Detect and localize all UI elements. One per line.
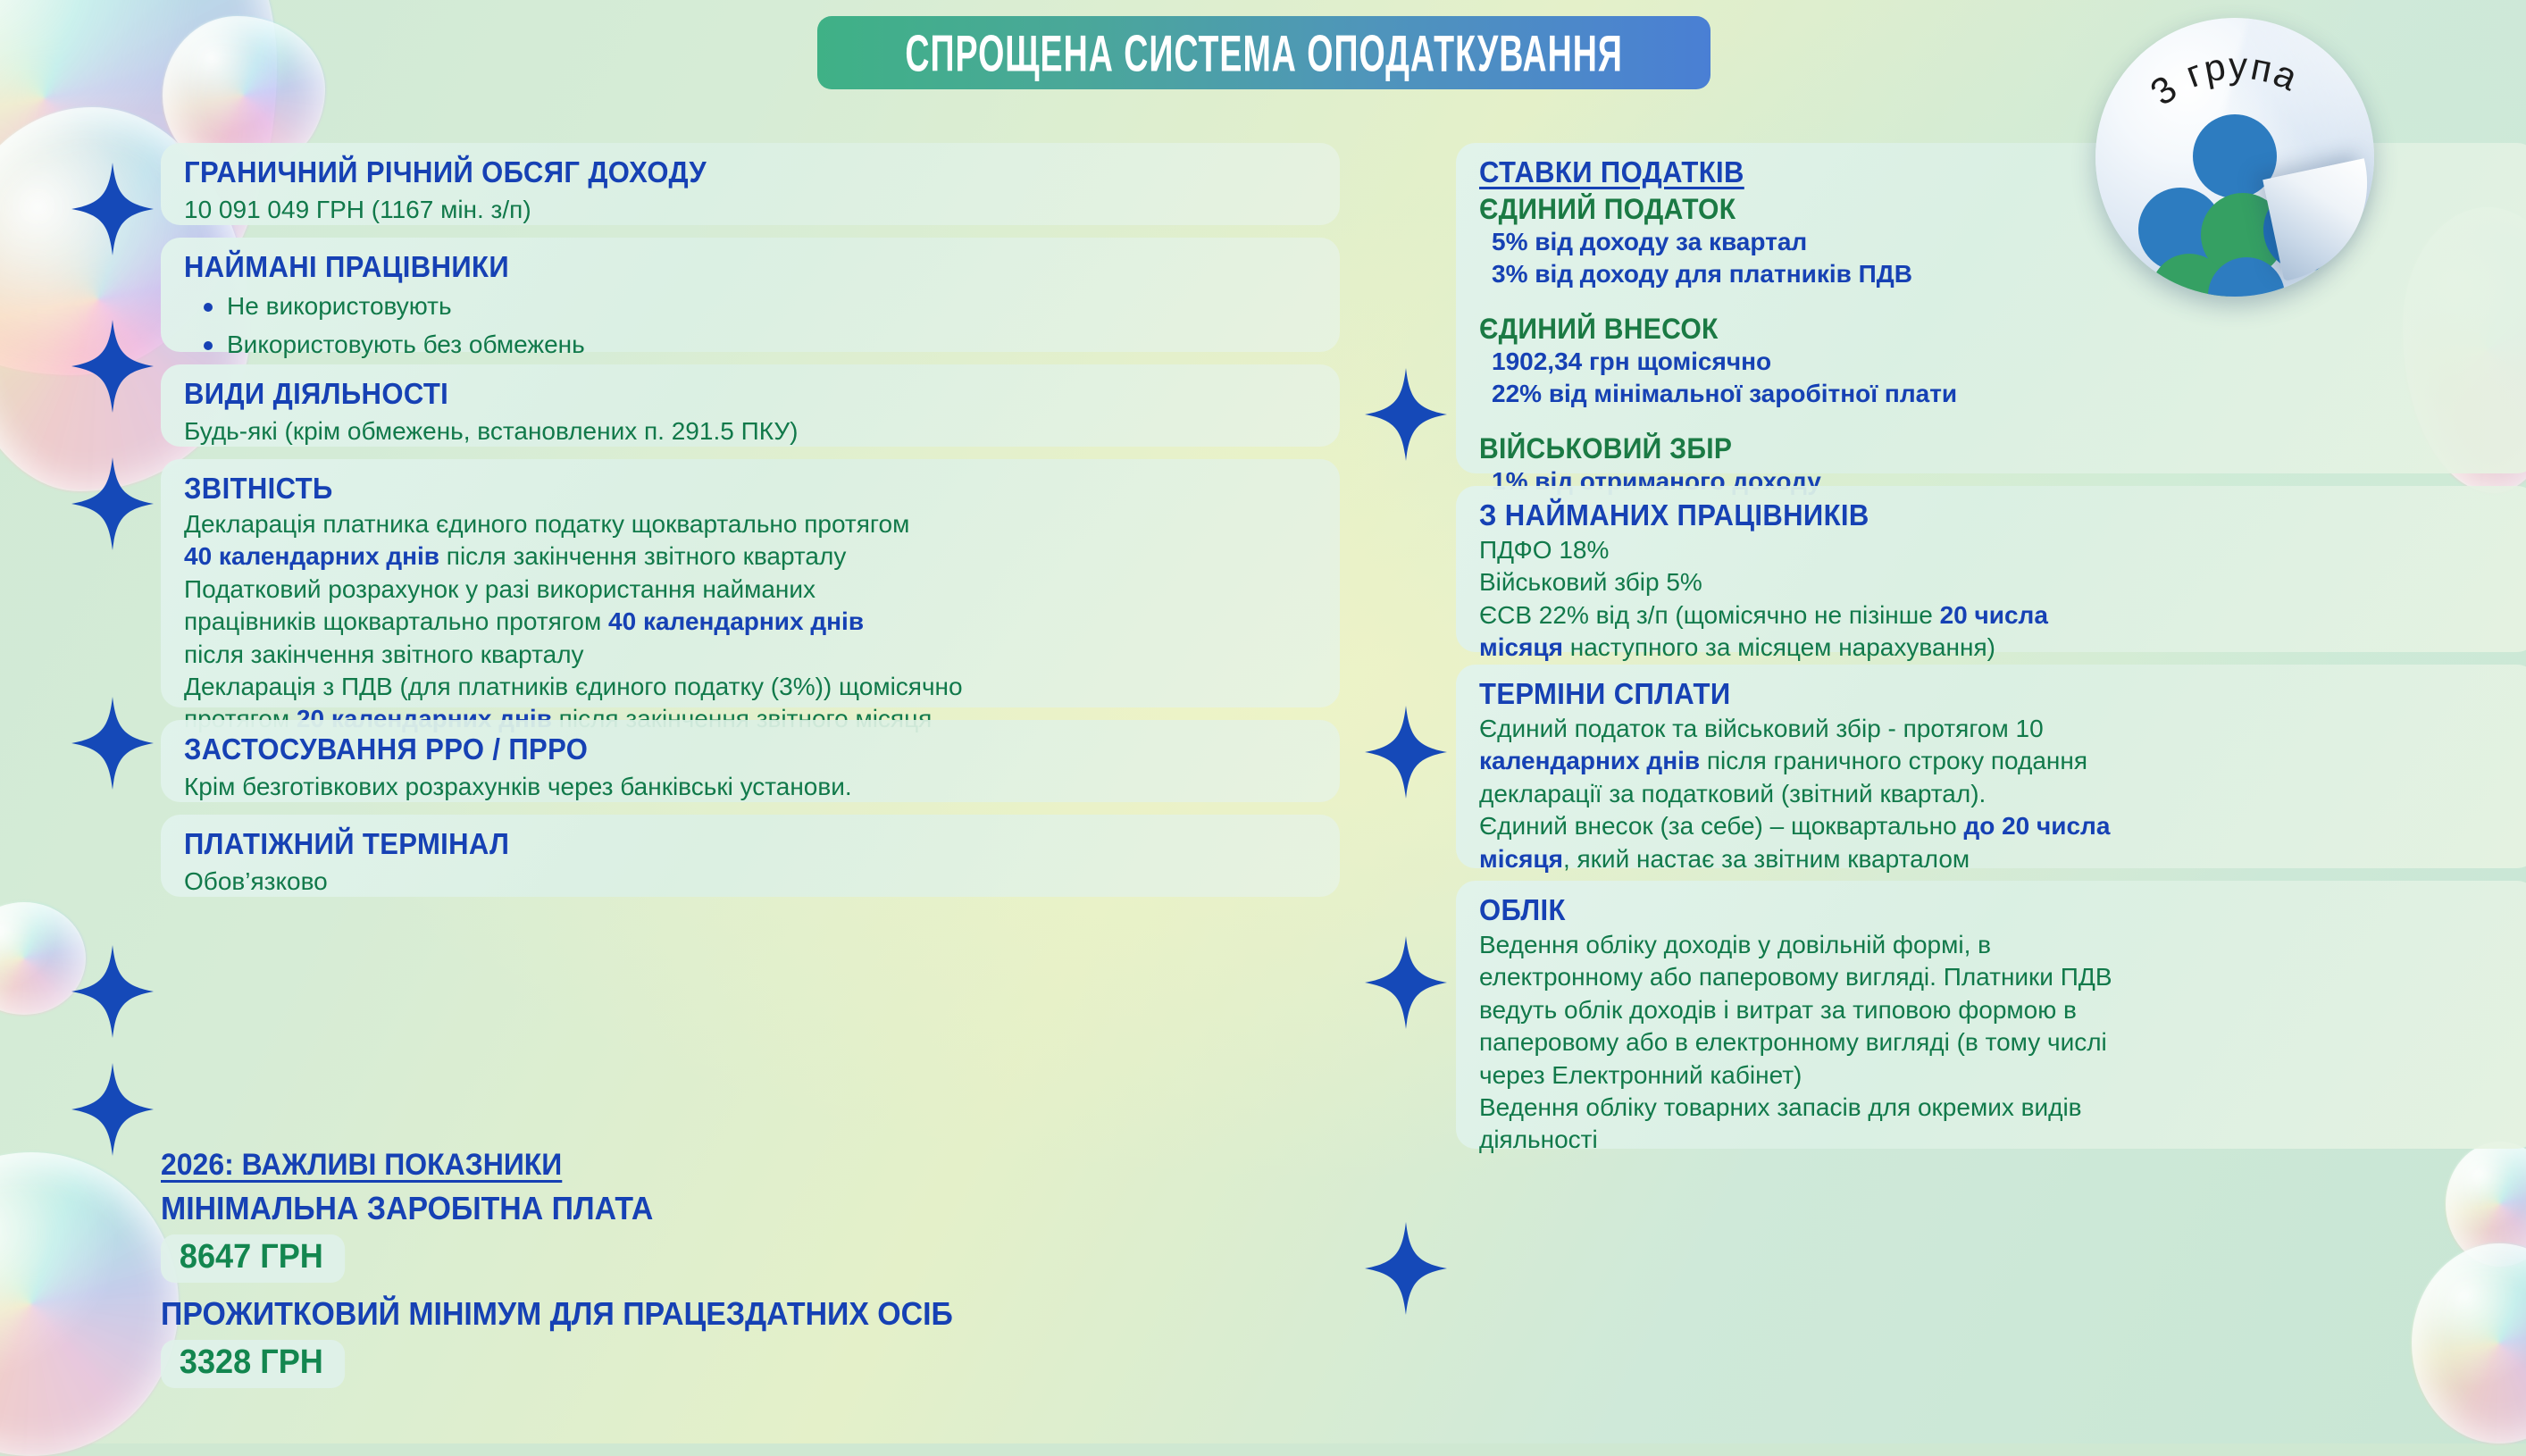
reporting-lines: Декларація платника єдиного податку щокв… [184,508,1317,736]
card-line: 10 091 049 ГРН (1167 мін. з/п) [184,194,1317,226]
kpi-value-min-wage: 8647 ГРН [161,1234,346,1283]
four-point-sparkle-icon [1365,368,1447,461]
kpi-2026-block: 2026: ВАЖЛИВІ ПОКАЗНИКИ МІНІМАЛЬНА ЗАРОБ… [161,1148,1340,1388]
accounting-lines: Ведення обліку доходів у довільній формі… [1479,929,2513,1157]
line-tail: після граничного строку подання [1700,747,2087,774]
line-head: працівників щоквартально протягом [184,607,608,635]
four-point-sparkle-icon [71,1063,154,1156]
four-point-sparkle-icon [71,697,154,790]
card-line: ведуть облік доходів і витрат за типовою… [1479,994,2513,1026]
card-employees: НАЙМАНІ ПРАЦІВНИКИ Не використовують Вик… [161,238,1340,352]
card-line: календарних днів після граничного строку… [1479,745,2513,777]
highlight-term: місяця [1479,633,1563,661]
card-line: ЄСВ 22% від з/п (щомісячно не пізінше 20… [1479,599,2513,632]
card-heading: ГРАНИЧНИЙ РІЧНИЙ ОБСЯГ ДОХОДУ [184,155,1249,189]
line-tail: після закінчення звітного кварталу [439,542,846,570]
hired-lines: ПДФО 18% Військовий збір 5% ЄСВ 22% від … [1479,534,2513,665]
card-line: електронному або паперовому вигляді. Пла… [1479,961,2513,993]
card-line: декларації за податковий (звітний кварта… [1479,778,2513,810]
line-tail: , який настає за звітним кварталом [1563,845,1970,873]
card-line: Ведення обліку товарних запасів для окре… [1479,1092,2513,1124]
highlight-term: календарних днів [1479,747,1700,774]
card-heading: НАЙМАНІ ПРАЦІВНИКИ [184,250,1249,284]
sticker-label: 3 група [2143,45,2305,113]
kpi-label-min-wage: МІНІМАЛЬНА ЗАРОБІТНА ПЛАТА [161,1190,1269,1227]
four-point-sparkle-icon [71,945,154,1038]
group-single-contribution: ЄДИНИЙ ВНЕСОК 1902,34 грн щомісячно 22% … [1479,313,2513,411]
highlight-term: 20 числа [1940,601,2048,629]
card-reporting: ЗВІТНІСТЬ Декларація платника єдиного по… [161,459,1340,707]
four-point-sparkle-icon [71,457,154,550]
group-subheading: ВІЙСЬКОВИЙ ЗБІР [1479,432,2452,465]
card-line: 40 календарних днів після закінчення зві… [184,540,1317,573]
card-line: місяця, який настає за звітним кварталом [1479,843,2513,875]
group-subheading: ЄДИНИЙ ВНЕСОК [1479,313,2452,346]
line-tail: наступного за місяцем нарахування) [1563,633,1995,661]
card-activity-types: ВИДИ ДІЯЛЬНОСТІ Будь-які (крім обмежень,… [161,364,1340,447]
card-line: діяльності [1479,1124,2513,1156]
kpi-value-subsistence: 3328 ГРН [161,1340,346,1388]
card-line: паперовому або в електронному вигляді (в… [1479,1026,2513,1059]
highlight-term: 40 календарних днів [608,607,864,635]
terms-lines: Єдиний податок та військовий збір - прот… [1479,713,2513,875]
group-line: 22% від мінімальної заробітної плати [1492,378,2513,410]
four-point-sparkle-icon [71,163,154,255]
line-head: Єдиний внесок (за себе) – щоквартально [1479,812,1963,840]
card-heading: З НАЙМАНИХ ПРАЦІВНИКІВ [1479,498,2452,532]
four-point-sparkle-icon [1365,1222,1447,1315]
card-heading: ТЕРМІНИ СПЛАТИ [1479,677,2452,711]
four-point-sparkle-icon [1365,936,1447,1029]
card-heading: ОБЛІК [1479,893,2452,927]
card-line: Крім безготівкових розрахунків через бан… [184,771,1317,803]
group-line: 1902,34 грн щомісячно [1492,346,2513,378]
card-line: Декларація з ПДВ (для платників єдиного … [184,671,1317,703]
card-line: Єдиний податок та військовий збір - прот… [1479,713,2513,745]
card-income-limit: ГРАНИЧНИЙ РІЧНИЙ ОБСЯГ ДОХОДУ 10 091 049… [161,143,1340,225]
left-column: ГРАНИЧНИЙ РІЧНИЙ ОБСЯГ ДОХОДУ 10 091 049… [161,143,1340,897]
card-heading: ЗВІТНІСТЬ [184,472,1249,506]
card-line: місяця наступного за місяцем нарахування… [1479,632,2513,664]
four-point-sparkle-icon [1365,706,1447,799]
card-line: Військовий збір 5% [1479,566,2513,598]
card-line: Єдиний внесок (за себе) – щоквартально д… [1479,810,2513,842]
card-line: Декларація платника єдиного податку щокв… [184,508,1317,540]
group-badge-sticker: 3 група [2095,18,2374,297]
card-line: через Електронний кабінет) [1479,1059,2513,1092]
card-heading: ВИДИ ДІЯЛЬНОСТІ [184,377,1249,411]
kpi-label-subsistence: ПРОЖИТКОВИЙ МІНІМУМ ДЛЯ ПРАЦЕЗДАТНИХ ОСІ… [161,1295,1269,1333]
card-rro-usage: ЗАСТОСУВАННЯ РРО / ПРРО Крім безготівков… [161,720,1340,802]
line-head: ЄСВ 22% від з/п (щомісячно не пізінше [1479,601,1940,629]
card-line: Податковий розрахунок у разі використанн… [184,573,1317,606]
four-point-sparkle-icon [71,320,154,413]
card-heading: ЗАСТОСУВАННЯ РРО / ПРРО [184,732,1249,766]
highlight-term: 40 календарних днів [184,542,439,570]
page-title: СПРОЩЕНА СИСТЕМА ОПОДАТКУВАННЯ [905,22,1622,82]
card-line: Ведення обліку доходів у довільній формі… [1479,929,2513,961]
list-item: Не використовують [200,288,1317,326]
card-line: після закінчення звітного кварталу [184,639,1317,671]
card-accounting: ОБЛІК Ведення обліку доходів у довільній… [1456,881,2526,1149]
card-payment-terminal: ПЛАТІЖНИЙ ТЕРМІНАЛ Обов’язково [161,815,1340,897]
kpi-title: 2026: ВАЖЛИВІ ПОКАЗНИКИ [161,1148,562,1183]
card-line: працівників щоквартально протягом 40 кал… [184,606,1317,638]
employees-bullet-list: Не використовують Використовують без обм… [200,288,1317,364]
card-heading: ПЛАТІЖНИЙ ТЕРМІНАЛ [184,827,1249,861]
card-heading: СТАВКИ ПОДАТКІВ [1479,155,1744,189]
card-hired-employees-taxes: З НАЙМАНИХ ПРАЦІВНИКІВ ПДФО 18% Військов… [1456,486,2526,652]
highlight-term: місяця [1479,845,1563,873]
highlight-term: до 20 числа [1963,812,2110,840]
card-line: Будь-які (крім обмежень, встановлених п.… [184,415,1317,448]
card-line: Обов’язково [184,866,1317,898]
list-item: Використовують без обмежень [200,326,1317,364]
card-payment-terms: ТЕРМІНИ СПЛАТИ Єдиний податок та військо… [1456,665,2526,868]
card-line: ПДФО 18% [1479,534,2513,566]
page-title-banner: СПРОЩЕНА СИСТЕМА ОПОДАТКУВАННЯ [817,16,1710,89]
